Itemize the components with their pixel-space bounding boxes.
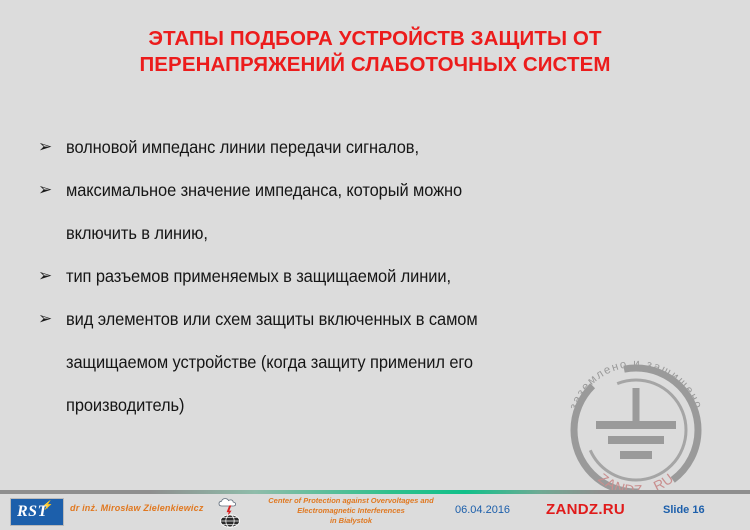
list-item: ➢ максимальное значение импеданса, котор…: [36, 169, 726, 255]
bullet-list: ➢ волновой импеданс линии передачи сигна…: [36, 126, 726, 427]
arrow-bullet-icon: ➢: [36, 169, 66, 212]
list-item: ➢ вид элементов или схем защиты включенн…: [36, 298, 726, 427]
slide-footer: RST ⚡ dr inż. Mirosław Zielenkiewicz Cen…: [0, 494, 750, 530]
page-title: ЭТАПЫ ПОДБОРА УСТРОЙСТВ ЗАЩИТЫ ОТ ПЕРЕНА…: [40, 26, 710, 78]
list-item-label: вид элементов или схем защиты включенных…: [66, 298, 686, 427]
lightning-bolt-icon: ⚡: [42, 501, 53, 510]
arrow-bullet-icon: ➢: [36, 126, 66, 169]
footer-brand-label[interactable]: ZANDZ.RU: [546, 501, 625, 518]
rst-logo: RST ⚡: [10, 498, 64, 526]
title-block: ЭТАПЫ ПОДБОРА УСТРОЙСТВ ЗАЩИТЫ ОТ ПЕРЕНА…: [40, 26, 710, 78]
organization-name: Center of Protection against Overvoltage…: [256, 496, 446, 526]
list-item-label: тип разъемов применяемых в защищаемой ли…: [66, 255, 686, 298]
slide-date: 06.04.2016: [455, 504, 510, 516]
presentation-slide: ЭТАПЫ ПОДБОРА УСТРОЙСТВ ЗАЩИТЫ ОТ ПЕРЕНА…: [0, 0, 750, 530]
list-item-label: максимальное значение импеданса, который…: [66, 169, 686, 255]
cloud-lightning-globe-icon: [213, 495, 247, 529]
list-item: ➢ тип разъемов применяемых в защищаемой …: [36, 255, 726, 298]
svg-text:ZANDZ . RU: ZANDZ . RU: [595, 470, 676, 492]
slide-number: Slide 16: [663, 504, 705, 516]
watermark-brand-text: ZANDZ . RU: [595, 470, 676, 492]
arrow-bullet-icon: ➢: [36, 298, 66, 341]
arrow-bullet-icon: ➢: [36, 255, 66, 298]
list-item-label: волновой импеданс линии передачи сигнало…: [66, 126, 686, 169]
author-name: dr inż. Mirosław Zielenkiewicz: [70, 503, 204, 513]
list-item: ➢ волновой импеданс линии передачи сигна…: [36, 126, 726, 169]
